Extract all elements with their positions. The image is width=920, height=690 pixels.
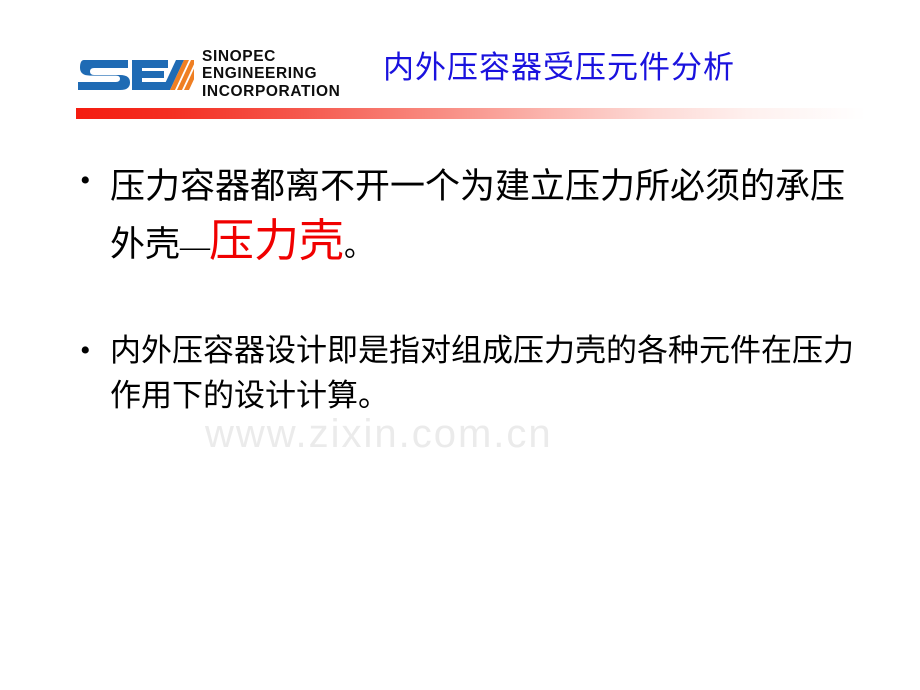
wordmark-line-incorporation: INCORPORATION [202,83,340,101]
sinopec-logo: SINOPEC ENGINEERING INCORPORATION [76,46,340,102]
header-gradient-divider [76,108,866,119]
sinopec-logo-mark-icon [76,50,194,98]
bullet-text-1: 压力容器都离不开一个为建立压力所必须的承压外壳—压力壳。 [110,158,850,276]
slide-content: www.zixin.com.cn • 压力容器都离不开一个为建立压力所必须的承压… [0,120,920,690]
watermark: www.zixin.com.cn [205,412,553,457]
wordmark-line-sinopec: SINOPEC [202,48,340,66]
page-title: 内外压容器受压元件分析 [383,46,883,90]
wordmark-line-engineering: ENGINEERING [202,65,340,83]
bullet-1-dash: — [180,230,209,263]
bullet-marker-icon: • [80,328,110,374]
presentation-slide: SINOPEC ENGINEERING INCORPORATION 内外压容器受… [0,0,920,690]
slide-header: SINOPEC ENGINEERING INCORPORATION 内外压容器受… [0,0,920,120]
bullet-marker-icon: • [80,158,110,204]
bullet-text-2: 内外压容器设计即是指对组成压力壳的各种元件在压力作用下的设计计算。 [110,328,860,418]
list-item: • 内外压容器设计即是指对组成压力壳的各种元件在压力作用下的设计计算。 [80,328,870,418]
sinopec-wordmark: SINOPEC ENGINEERING INCORPORATION [202,48,340,101]
list-item: • 压力容器都离不开一个为建立压力所必须的承压外壳—压力壳。 [80,158,870,276]
bullet-1-emphasis: 压力壳 [209,216,344,266]
bullet-1-period: 。 [344,230,374,263]
